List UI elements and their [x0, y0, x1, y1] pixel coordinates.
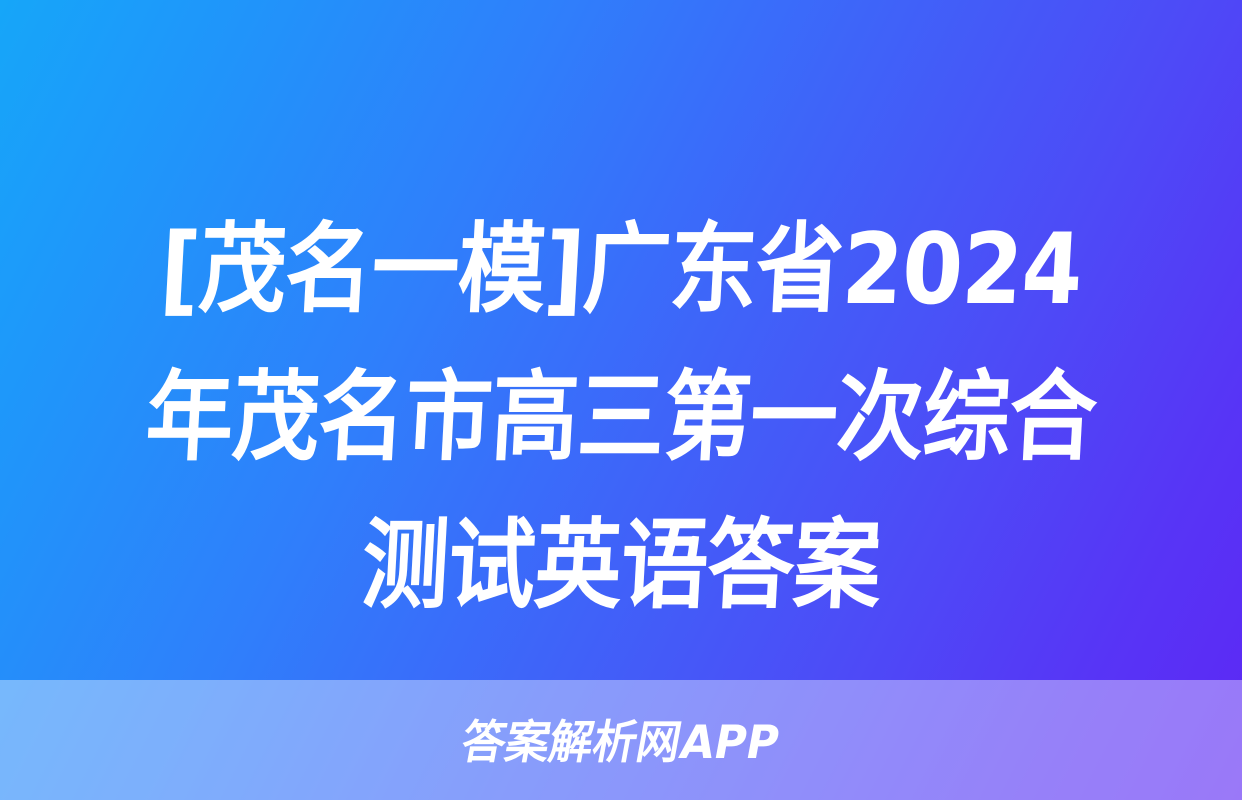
poster-canvas: [茂名一模]广东省2024 年茂名市高三第一次综合 测试英语答案 答案解析网AP…: [0, 0, 1242, 800]
app-watermark-label: 答案解析网APP: [459, 719, 784, 765]
title-line-3: 测试英语答案: [103, 492, 1138, 640]
page-title: [茂名一模]广东省2024 年茂名市高三第一次综合 测试英语答案: [0, 196, 1242, 640]
title-line-1: [茂名一模]广东省2024: [103, 196, 1138, 344]
footer-watermark-band: 答案解析网APP: [0, 680, 1242, 800]
title-line-2: 年茂名市高三第一次综合: [103, 344, 1138, 492]
